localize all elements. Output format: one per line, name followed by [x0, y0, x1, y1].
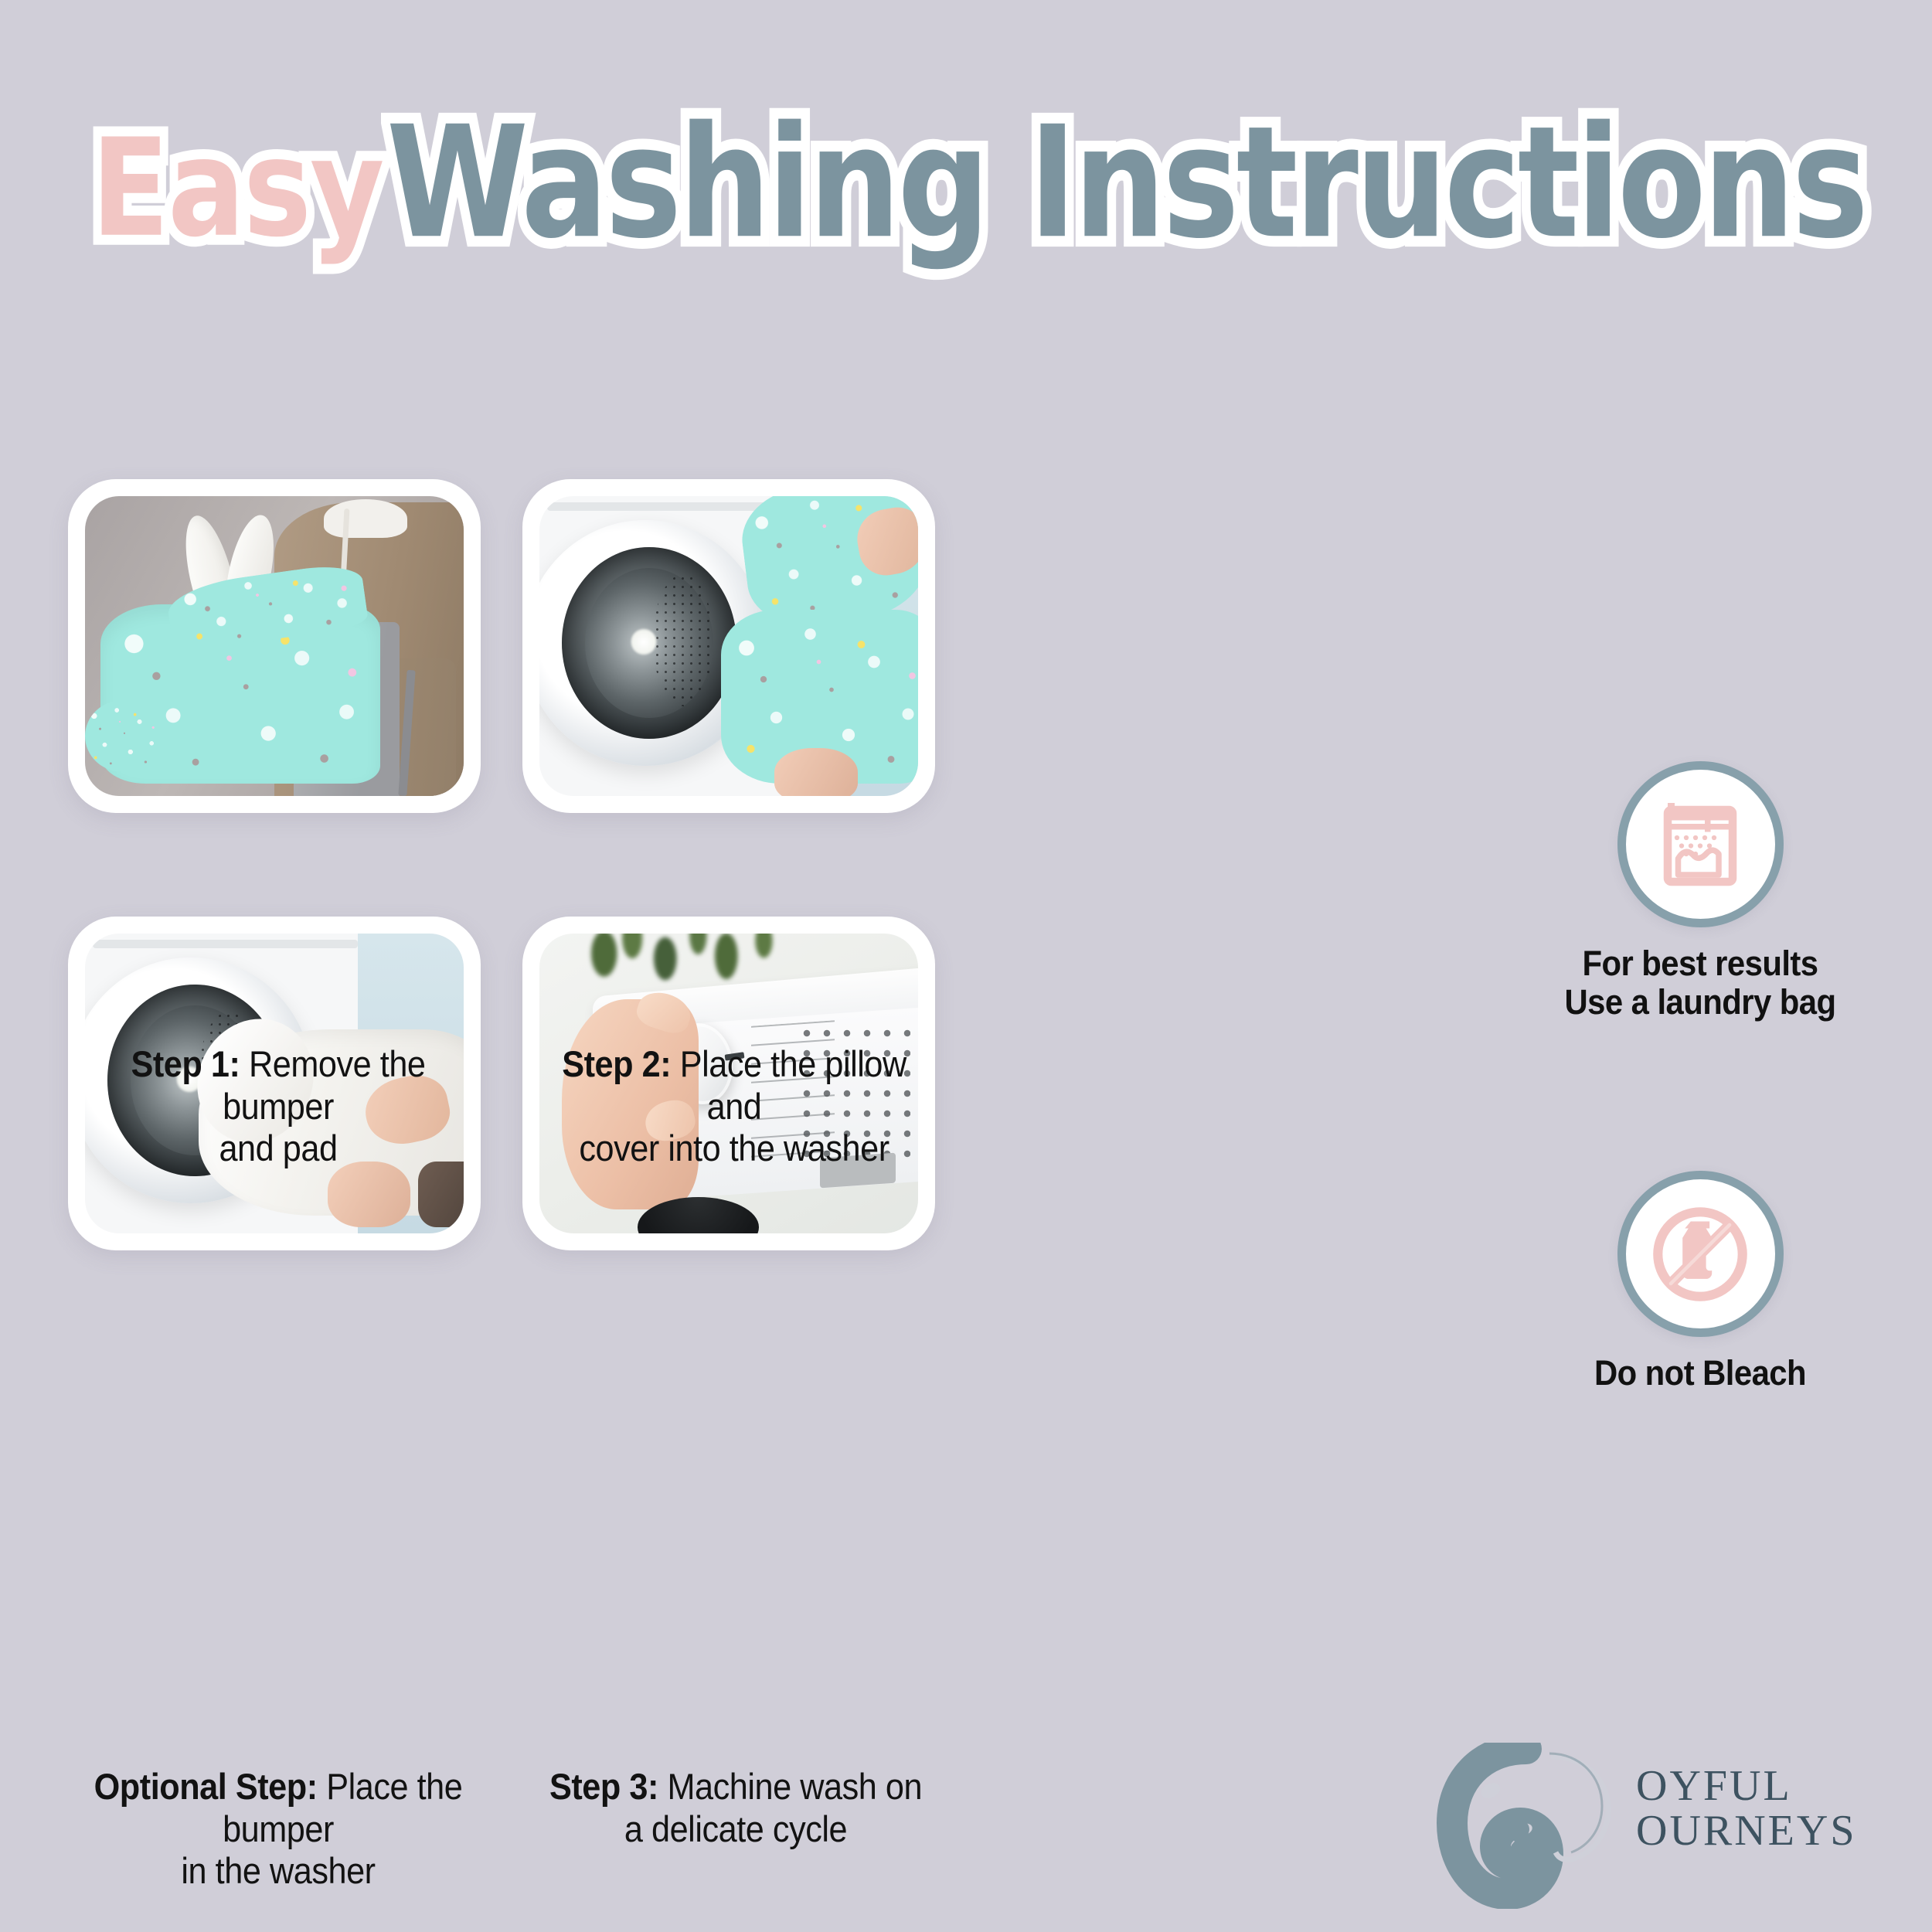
caption-optional-line2: in the washer [181, 1850, 375, 1891]
badge-ring-laundry-bag [1617, 761, 1784, 927]
mesh-laundry-bag-icon [1642, 787, 1758, 903]
caption-step1-label: Step 1: [131, 1043, 240, 1084]
photo-step1-remove-bumper [85, 496, 464, 796]
photo-card-step1 [68, 479, 481, 813]
photo-card-step2 [522, 479, 935, 813]
caption-step3-line2: a delicate cycle [624, 1808, 847, 1849]
mint-bumper-tail [85, 700, 161, 772]
photo-step2-into-washer [539, 496, 918, 796]
badge-laundry-bag-line1: For best results [1582, 944, 1818, 983]
badge-ring-do-not-bleach [1617, 1171, 1784, 1337]
badge-do-not-bleach-line1: Do not Bleach [1594, 1353, 1806, 1393]
caption-step2-label: Step 2: [562, 1043, 671, 1084]
no-bleach-icon [1641, 1196, 1759, 1313]
logo-line2: OURNEYS [1636, 1809, 1856, 1854]
caption-step1-line1: Remove the bumper [223, 1043, 425, 1127]
hand-lower [328, 1162, 411, 1227]
badge-laundry-bag: For best results Use a laundry bag [1507, 761, 1893, 1022]
caption-step2-line1: Place the pillow and [680, 1043, 906, 1127]
caption-optional-step: Optional Step: Place the bumper in the w… [65, 1766, 492, 1893]
caption-step1-line2: and pad [219, 1128, 337, 1168]
logo-line1: OYFUL [1636, 1762, 1792, 1810]
drum-perforations [653, 574, 713, 706]
badge-laundry-bag-line2: Use a laundry bag [1564, 982, 1835, 1022]
washer-top-edge [93, 940, 358, 949]
caption-step3-line1: Machine wash on [667, 1766, 922, 1807]
title-line-easy: Easy [91, 124, 383, 253]
hood-collar [324, 499, 407, 538]
caption-step3-label: Step 3: [549, 1766, 658, 1807]
page-title: Easy Washing Instructions [91, 73, 1911, 239]
badge-laundry-bag-label: For best results Use a laundry bag [1521, 944, 1880, 1022]
caption-step3: Step 3: Machine wash on a delicate cycle [536, 1766, 934, 1850]
caption-step2-line2: cover into the washer [579, 1128, 889, 1168]
elephant-icon [1434, 1743, 1665, 1909]
title-line-washing-instructions: Washing Instructions [386, 106, 1866, 260]
badge-do-not-bleach-label: Do not Bleach [1521, 1354, 1880, 1393]
caption-optional-label: Optional Step: [94, 1766, 318, 1807]
logo-wordmark: OYFUL OURNEYS [1636, 1764, 1856, 1853]
drum-light [631, 628, 657, 655]
brand-logo: OYFUL OURNEYS [1434, 1743, 1897, 1909]
infographic-page: Easy Washing Instructions [0, 0, 1932, 1932]
caption-step2: Step 2: Place the pillow and cover into … [535, 1043, 933, 1170]
brown-sleeve [418, 1162, 464, 1227]
caption-step1: Step 1: Remove the bumper and pad [79, 1043, 477, 1170]
hand-holding-cover [774, 748, 858, 796]
badge-do-not-bleach: Do not Bleach [1507, 1171, 1893, 1393]
